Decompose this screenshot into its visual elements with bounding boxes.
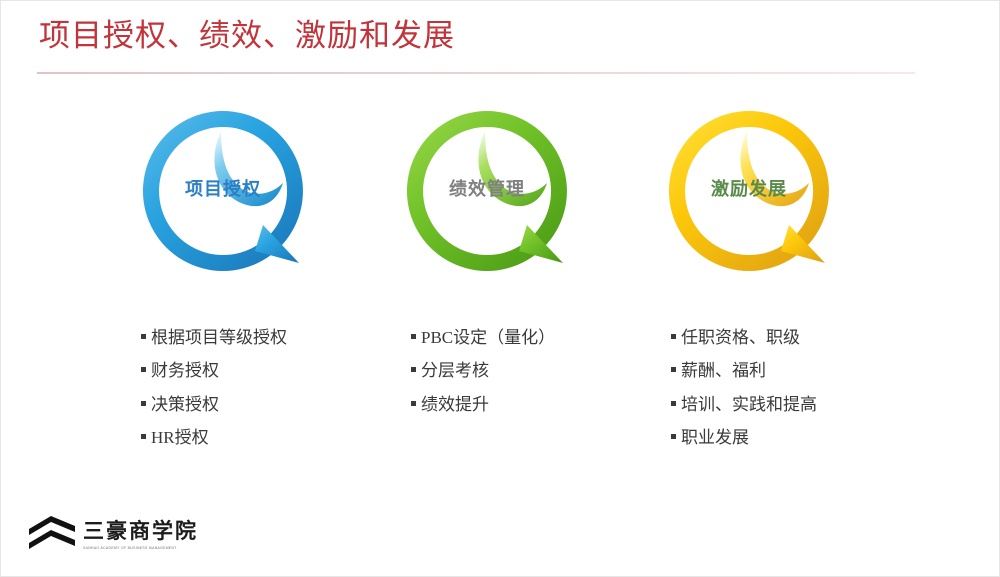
list-item-label: 任职资格、职级 bbox=[681, 325, 800, 351]
bullet-marker-icon bbox=[141, 434, 146, 439]
double-chevron-logo-icon bbox=[29, 516, 75, 554]
footer-logo: 三豪商学院 SANHAO ACADEMY OF BUSINESS MANAGEM… bbox=[29, 516, 198, 554]
bullet-marker-icon bbox=[141, 334, 146, 339]
bullet-marker-icon bbox=[411, 367, 416, 372]
logo-text-wrap: 三豪商学院 SANHAO ACADEMY OF BUSINESS MANAGEM… bbox=[83, 520, 198, 549]
list-item: 薪酬、福利 bbox=[671, 358, 921, 384]
list-item-label: 薪酬、福利 bbox=[681, 358, 766, 384]
list-item: 绩效提升 bbox=[411, 392, 661, 418]
list-item: 决策授权 bbox=[141, 392, 391, 418]
list-item-label: 根据项目等级授权 bbox=[151, 325, 287, 351]
list-item-label: 决策授权 bbox=[151, 392, 219, 418]
bubble-item-0[interactable]: 项目授权 bbox=[137, 105, 309, 277]
bubble-item-1[interactable]: 绩效管理 bbox=[401, 105, 573, 277]
bullet-marker-icon bbox=[141, 367, 146, 372]
list-item-label: HR授权 bbox=[151, 425, 209, 451]
speech-bubble-leaf-icon bbox=[137, 105, 309, 277]
list-item-label: 职业发展 bbox=[681, 425, 749, 451]
bullet-marker-icon bbox=[141, 401, 146, 406]
bullet-column-2: 任职资格、职级 薪酬、福利 培训、实践和提高 职业发展 bbox=[671, 325, 921, 458]
list-item-label: 绩效提升 bbox=[421, 392, 489, 418]
list-item: 任职资格、职级 bbox=[671, 325, 921, 351]
bullet-column-0: 根据项目等级授权 财务授权 决策授权 HR授权 bbox=[141, 325, 391, 458]
bullet-marker-icon bbox=[411, 334, 416, 339]
list-item: 职业发展 bbox=[671, 425, 921, 451]
bullet-marker-icon bbox=[671, 434, 676, 439]
speech-bubble-leaf-icon bbox=[663, 105, 835, 277]
bullet-marker-icon bbox=[671, 334, 676, 339]
list-item-label: 培训、实践和提高 bbox=[681, 392, 817, 418]
list-item: HR授权 bbox=[141, 425, 391, 451]
bubble-item-2[interactable]: 激励发展 bbox=[663, 105, 835, 277]
logo-text: 三豪商学院 bbox=[83, 520, 198, 543]
bullet-marker-icon bbox=[671, 367, 676, 372]
list-item: 培训、实践和提高 bbox=[671, 392, 921, 418]
title-block: 项目授权、绩效、激励和发展 bbox=[39, 15, 919, 57]
list-item-label: 分层考核 bbox=[421, 358, 489, 384]
page-title: 项目授权、绩效、激励和发展 bbox=[39, 15, 919, 57]
list-item: PBC设定（量化） bbox=[411, 325, 661, 351]
list-item: 根据项目等级授权 bbox=[141, 325, 391, 351]
list-item-label: 财务授权 bbox=[151, 358, 219, 384]
list-item-label: PBC设定（量化） bbox=[421, 325, 555, 351]
bullet-columns: 根据项目等级授权 财务授权 决策授权 HR授权 PBC设定（量化） bbox=[1, 325, 1000, 465]
title-underline-rule bbox=[37, 72, 915, 74]
bullet-marker-icon bbox=[411, 401, 416, 406]
bullet-column-1: PBC设定（量化） 分层考核 绩效提升 bbox=[411, 325, 661, 425]
speech-bubble-leaf-icon bbox=[401, 105, 573, 277]
list-item: 分层考核 bbox=[411, 358, 661, 384]
list-item: 财务授权 bbox=[141, 358, 391, 384]
slide-canvas: 项目授权、绩效、激励和发展 bbox=[0, 0, 1000, 577]
logo-subtext: SANHAO ACADEMY OF BUSINESS MANAGEMENT bbox=[83, 546, 198, 550]
bubble-row: 项目授权 bbox=[1, 105, 1000, 280]
bullet-marker-icon bbox=[671, 401, 676, 406]
